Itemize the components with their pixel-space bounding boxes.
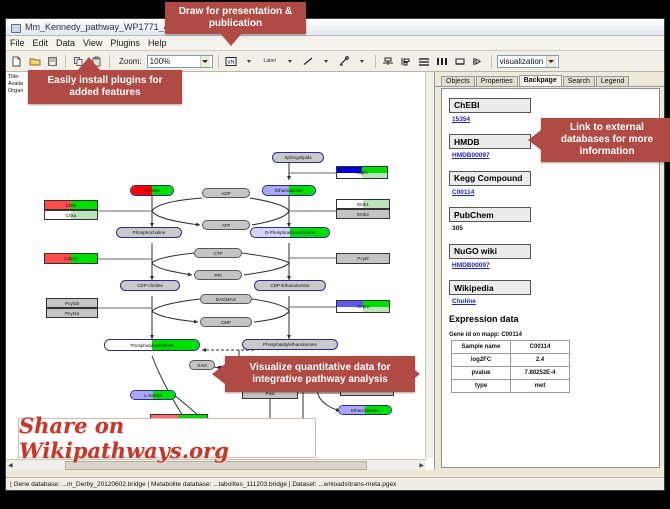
zoom-label: Zoom:: [119, 57, 142, 66]
share-text: Share on Wikipathways.org: [19, 413, 315, 463]
backpage-header-nugo: NuGO wiki: [449, 244, 531, 259]
status-bar: | Gene database: ...m_Derby_20120602.bri…: [6, 477, 664, 490]
cell-key-log2fc: log2FC: [452, 354, 511, 367]
line-icon[interactable]: [301, 54, 316, 69]
callout-share: Share on Wikipathways.org: [18, 418, 316, 458]
node-sgpl1[interactable]: Sgpl1: [336, 166, 388, 179]
gene-id-label: Gene id on mapp: C00114: [449, 332, 652, 338]
node-phosphatidylethanolamine[interactable]: Phosphatidylethanolamine: [242, 339, 338, 350]
menu-item-view[interactable]: View: [83, 38, 102, 48]
menu-item-edit[interactable]: Edit: [33, 38, 49, 48]
table-row: log2FC 2.4: [452, 354, 570, 367]
callout-visualize-arrow-left-icon: [212, 364, 225, 384]
node-cept1[interactable]: Cept1: [336, 300, 390, 313]
table-row: type met: [452, 380, 570, 393]
cell-key-type: type: [452, 380, 511, 393]
table-row: Sample name C00114: [452, 341, 570, 354]
label-dropdown-icon[interactable]: [283, 54, 298, 69]
node-chka[interactable]: Chka: [44, 210, 98, 220]
open-folder-icon[interactable]: [27, 54, 42, 69]
datanode-dropdown-icon[interactable]: [242, 54, 257, 69]
cell-value-log2fc: 2.4: [511, 354, 570, 367]
zoom-value: 100%: [150, 57, 170, 66]
cell-value-sample-name: C00114: [511, 341, 570, 354]
visualization-value: visualization: [500, 57, 544, 66]
backpage-value-pubchem: 305: [452, 225, 652, 232]
chevron-down-icon[interactable]: [200, 56, 210, 67]
group-icon[interactable]: [453, 54, 468, 69]
expression-data-title: Expression data: [449, 314, 652, 324]
node-ethanolamine[interactable]: Ethanolamine: [262, 185, 316, 196]
pathway-editor[interactable]: Title: Availa Organ: [6, 72, 435, 470]
scroll-right-icon[interactable]: ▶: [417, 462, 426, 469]
callout-visualize: Visualize quantitative data for integrat…: [225, 356, 415, 392]
callout-draw-arrow-icon: [220, 33, 242, 46]
node-pcyt1a[interactable]: Pcyt1a: [46, 308, 98, 318]
save-icon[interactable]: [45, 54, 60, 69]
node-ctp[interactable]: CTP: [194, 248, 242, 258]
node-etnk2[interactable]: Etnk2: [336, 209, 390, 219]
receptor-dropdown-icon[interactable]: [355, 54, 370, 69]
toolbar-separator: [491, 55, 492, 68]
tab-backpage[interactable]: Backpage: [519, 75, 562, 86]
backpage-header-hmdb: HMDB: [449, 134, 531, 149]
distribute-icon[interactable]: [435, 54, 450, 69]
toolbar-separator: [218, 55, 219, 68]
callout-link: Link to external databases for more info…: [541, 118, 670, 162]
node-cmp[interactable]: CMP: [200, 317, 252, 327]
pathway-canvas[interactable]: Sphingolipids Choline Ethanolamine Phosp…: [6, 72, 426, 458]
align-center-icon[interactable]: [381, 54, 396, 69]
cell-value-type: met: [511, 380, 570, 393]
callout-draw: Draw for presentation & publication: [165, 2, 306, 34]
node-phosphatidylcholines[interactable]: Phosphatidylcholines: [104, 339, 200, 351]
node-cdp-choline[interactable]: CDP-choline: [120, 280, 180, 291]
toolbar-separator: [109, 55, 110, 68]
node-ppi[interactable]: PPi: [194, 270, 242, 280]
backpage-header-kegg: Kegg Compound: [449, 171, 531, 186]
node-sphingolipids[interactable]: Sphingolipids: [272, 152, 324, 163]
node-pcyt1b[interactable]: Pcyt1b: [46, 298, 98, 308]
node-pcyt2[interactable]: Pcyt2: [336, 253, 390, 264]
datanode-icon[interactable]: aN: [224, 54, 239, 69]
callout-visualize-arrow-right-icon: [407, 364, 420, 384]
side-panel-tabs: Objects Properties Backpage Search Legen…: [435, 72, 664, 87]
label-button[interactable]: Label: [260, 54, 280, 69]
backpage-header-wikipedia: Wikipedia: [449, 280, 531, 295]
cell-value-pvalue: 7.80252E-4: [511, 367, 570, 380]
new-file-icon[interactable]: [9, 54, 24, 69]
node-cdipt1[interactable]: Cdipt1: [44, 253, 98, 264]
backpage-header-pubchem: PubChem: [449, 207, 531, 222]
node-choline[interactable]: Choline: [130, 185, 174, 196]
info-organism-label: Organ: [8, 88, 23, 95]
toolbar-separator: [65, 55, 66, 68]
tab-objects[interactable]: Objects: [441, 76, 475, 86]
chevron-down-icon[interactable]: [546, 56, 556, 67]
node-cdp-ethanolamine[interactable]: CDP-Ethanolamine: [254, 280, 326, 291]
line-dropdown-icon[interactable]: [319, 54, 334, 69]
node-o-phosphoethanolamine[interactable]: O-Phosphoethanolamine: [250, 227, 330, 238]
pathway-edges: [6, 72, 426, 458]
callout-plugins-arrow-icon: [78, 57, 100, 70]
svg-text:aN: aN: [228, 59, 235, 65]
node-etnk1[interactable]: Etnk1: [336, 199, 390, 209]
order-icon[interactable]: [471, 54, 486, 69]
visualization-combobox[interactable]: visualization: [497, 55, 559, 68]
toolbar: Zoom: 100% aN Label: [6, 51, 664, 72]
zoom-combobox[interactable]: 100%: [147, 55, 213, 68]
backpage-link-kegg[interactable]: C00114: [452, 189, 652, 196]
menu-item-data[interactable]: Data: [56, 38, 75, 48]
canvas-vertical-scrollbar[interactable]: [425, 72, 434, 458]
receptor-icon[interactable]: [337, 54, 352, 69]
info-availability-label: Availa: [8, 81, 23, 88]
pathway-info: Title: Availa Organ: [8, 74, 23, 95]
expression-data-table: Sample name C00114 log2FC 2.4 pvalue 7.8…: [451, 340, 570, 393]
toolbar-separator: [375, 55, 376, 68]
align-left-icon[interactable]: [399, 54, 414, 69]
tab-legend[interactable]: Legend: [596, 76, 629, 86]
node-phosphocholine[interactable]: Phosphocholine: [116, 227, 182, 238]
table-row: pvalue 7.80252E-4: [452, 367, 570, 380]
app-icon: [10, 22, 21, 33]
title-bar: Mm_Kennedy_pathway_WP1771_45176.gpml: [6, 19, 664, 36]
backpage-header-chebi: ChEBI: [449, 98, 531, 113]
node-ethanolamine-right[interactable]: Ethanolamine: [338, 405, 392, 415]
scroll-left-icon[interactable]: ◀: [6, 462, 15, 469]
menu-item-file[interactable]: File: [10, 38, 25, 48]
backpage-link-wikipedia[interactable]: Choline: [452, 298, 652, 305]
node-atp[interactable]: ATP: [202, 220, 250, 230]
info-title-label: Title:: [8, 74, 23, 81]
tab-properties[interactable]: Properties: [476, 76, 518, 86]
callout-plugins: Easily install plugins for added feature…: [28, 70, 182, 104]
cell-key-sample-name: Sample name: [452, 341, 511, 354]
node-chkb[interactable]: Chkb: [44, 200, 98, 210]
menu-item-help[interactable]: Help: [148, 38, 167, 48]
stack-icon[interactable]: [417, 54, 432, 69]
node-dagmag[interactable]: DAGMAG: [200, 294, 252, 304]
status-bar-text: | Gene database: ...m_Derby_20120602.bri…: [6, 481, 396, 488]
callout-link-arrow-icon: [528, 130, 541, 150]
node-l-serine-left[interactable]: L-Serine: [130, 390, 176, 400]
menu-bar: File Edit Data View Plugins Help: [6, 36, 664, 51]
cell-key-pvalue: pvalue: [452, 367, 511, 380]
node-adp[interactable]: ADP: [202, 188, 250, 198]
backpage-link-nugo[interactable]: HMDB00097: [452, 262, 652, 269]
menu-item-plugins[interactable]: Plugins: [110, 38, 140, 48]
tab-search[interactable]: Search: [563, 76, 595, 86]
